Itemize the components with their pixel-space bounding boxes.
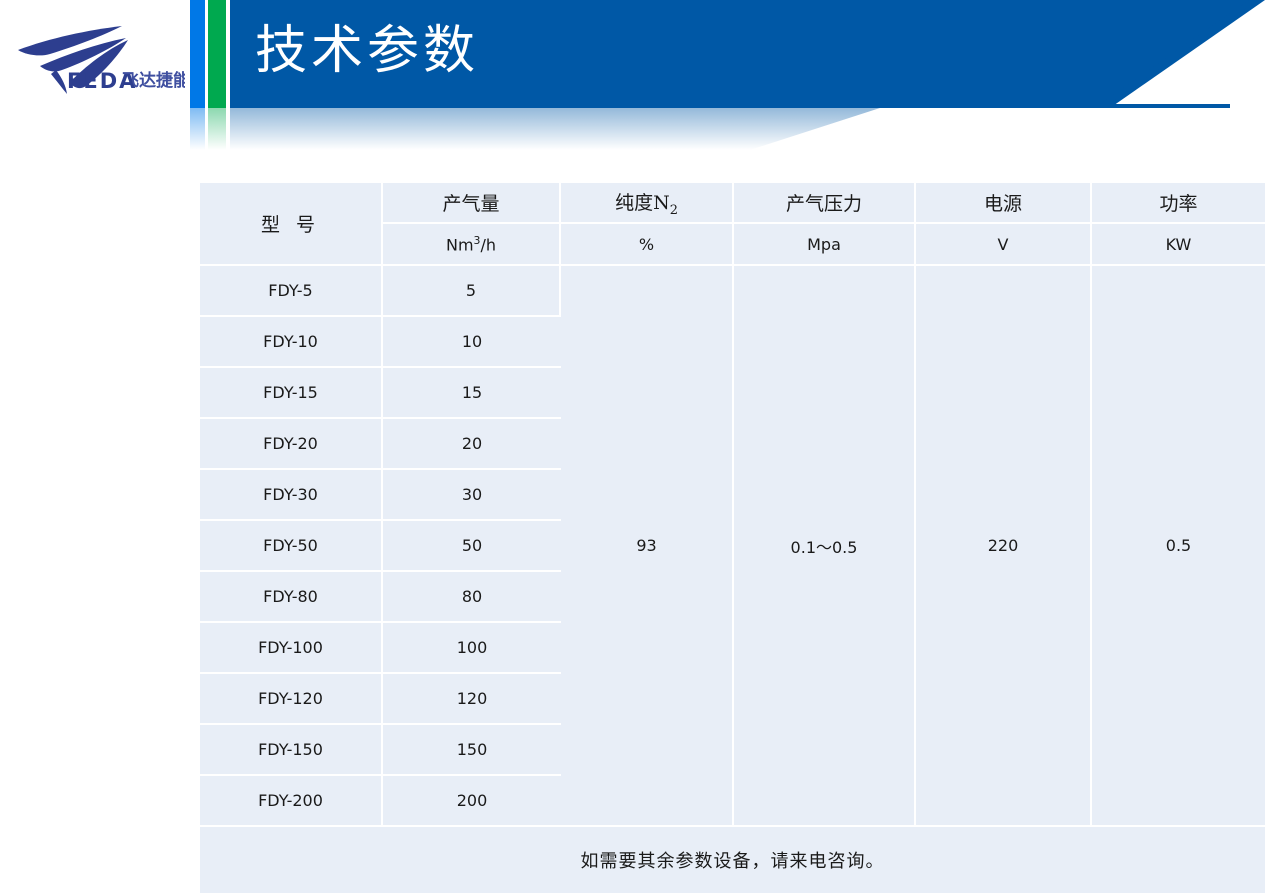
cell-flow: 5	[383, 266, 561, 317]
col-unit-voltage: V	[916, 224, 1092, 266]
company-logo: FEDA 飞达捷能	[10, 22, 185, 97]
table-footer-row: 如需要其余参数设备，请来电咨询。	[200, 827, 1265, 893]
col-header-flow: 产气量	[383, 183, 561, 224]
page-title: 技术参数	[255, 14, 479, 88]
cell-flow: 20	[383, 419, 561, 470]
col-header-voltage: 电源	[916, 183, 1092, 224]
table-row: FDY-5 5 93 0.1～0.5 220 0.5	[200, 266, 1265, 317]
col-unit-flow: Nm3/h	[383, 224, 561, 266]
cell-voltage-merged: 220	[916, 266, 1092, 827]
col-unit-purity: %	[561, 224, 734, 266]
cell-purity-merged: 93	[561, 266, 734, 827]
cell-flow: 150	[383, 725, 561, 776]
cell-flow: 100	[383, 623, 561, 674]
cell-model: FDY-200	[200, 776, 383, 827]
spec-table-body: FDY-5 5 93 0.1～0.5 220 0.5 FDY-10 10 FDY…	[200, 266, 1265, 893]
cell-model: FDY-100	[200, 623, 383, 674]
cell-flow: 10	[383, 317, 561, 368]
logo-chinese-text: 飞达捷能	[122, 70, 185, 91]
col-header-purity: 纯度N2	[561, 183, 734, 224]
accent-stripe-green-reflection	[208, 108, 226, 150]
cell-flow: 200	[383, 776, 561, 827]
table-footer-note: 如需要其余参数设备，请来电咨询。	[200, 827, 1265, 893]
col-header-model: 型 号	[200, 183, 383, 266]
cell-flow: 30	[383, 470, 561, 521]
title-banner-reflection	[230, 108, 1265, 150]
accent-stripe-blue	[190, 0, 205, 108]
cell-model: FDY-150	[200, 725, 383, 776]
table-header-row-name: 型 号 产气量 纯度N2 产气压力 电源 功率	[200, 183, 1265, 224]
cell-model: FDY-80	[200, 572, 383, 623]
cell-model: FDY-20	[200, 419, 383, 470]
wing-bird-logo-icon: FEDA 飞达捷能	[10, 22, 185, 97]
accent-stripe-green	[208, 0, 226, 108]
page-header: FEDA 飞达捷能 技术参数	[0, 0, 1265, 150]
cell-flow: 50	[383, 521, 561, 572]
cell-flow: 120	[383, 674, 561, 725]
cell-model: FDY-5	[200, 266, 383, 317]
cell-model: FDY-50	[200, 521, 383, 572]
col-unit-pressure: Mpa	[734, 224, 916, 266]
accent-stripe-blue-reflection	[190, 108, 205, 150]
title-banner: 技术参数	[230, 0, 1265, 108]
cell-model: FDY-120	[200, 674, 383, 725]
spec-table: 型 号 产气量 纯度N2 产气压力 电源 功率 Nm3/h % Mpa V KW…	[200, 183, 1265, 893]
spec-table-container: 型 号 产气量 纯度N2 产气压力 电源 功率 Nm3/h % Mpa V KW…	[200, 183, 1265, 893]
col-header-pressure: 产气压力	[734, 183, 916, 224]
cell-pressure-merged: 0.1～0.5	[734, 266, 916, 827]
cell-model: FDY-10	[200, 317, 383, 368]
col-unit-power: KW	[1092, 224, 1265, 266]
cell-power-merged: 0.5	[1092, 266, 1265, 827]
cell-model: FDY-30	[200, 470, 383, 521]
cell-model: FDY-15	[200, 368, 383, 419]
cell-flow: 80	[383, 572, 561, 623]
col-header-power: 功率	[1092, 183, 1265, 224]
cell-flow: 15	[383, 368, 561, 419]
